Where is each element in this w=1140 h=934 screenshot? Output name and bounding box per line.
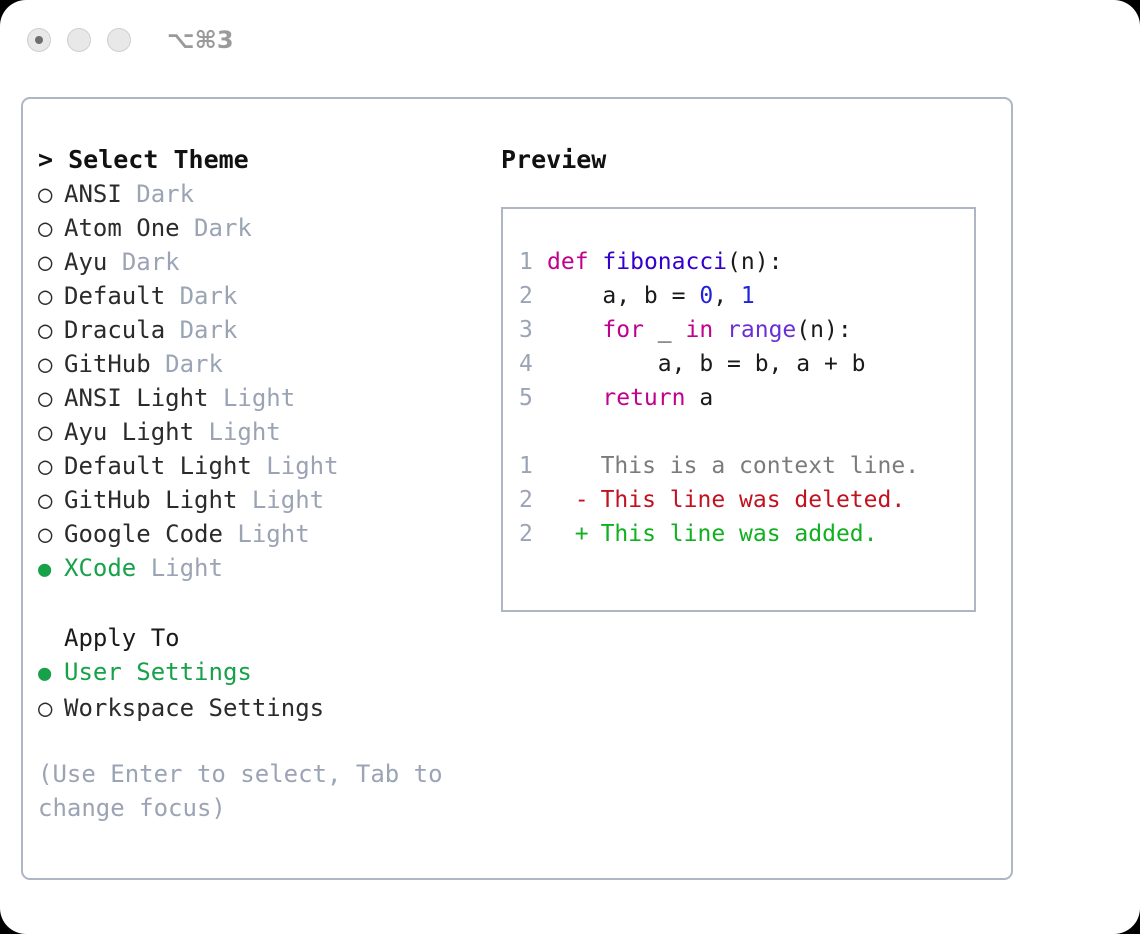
code-token: fibonacci bbox=[602, 249, 727, 275]
theme-selector-panel: > Select Theme ○ANSI Dark○Atom One Dark○… bbox=[21, 97, 1013, 880]
spacer bbox=[547, 453, 575, 479]
diff-sample: 1 This is a context line.2 - This line w… bbox=[519, 449, 974, 551]
spacer bbox=[122, 180, 136, 208]
theme-kind-label: Light bbox=[209, 418, 281, 446]
preview-box: 1def fibonacci(n):2 a, b = 0, 13 for _ i… bbox=[501, 207, 976, 612]
radio-selected-icon: ● bbox=[38, 553, 64, 587]
keyboard-hint: (Use Enter to select, Tab to change focu… bbox=[38, 757, 458, 825]
spacer bbox=[547, 521, 575, 547]
theme-name-label: GitHub bbox=[64, 350, 151, 378]
spacer bbox=[107, 248, 121, 276]
code-token: 1 bbox=[741, 283, 755, 309]
radio-unselected-icon: ○ bbox=[38, 245, 64, 279]
code-line: 4 a, b = b, a + b bbox=[519, 347, 974, 381]
radio-unselected-icon: ○ bbox=[38, 381, 64, 415]
spacer bbox=[223, 520, 237, 548]
code-token: range bbox=[727, 317, 796, 343]
line-number: 5 bbox=[519, 381, 547, 415]
line-number: 4 bbox=[519, 347, 547, 381]
code-token: return bbox=[602, 385, 685, 411]
theme-list: ○ANSI Dark○Atom One Dark○Ayu Dark○Defaul… bbox=[38, 177, 488, 587]
code-token bbox=[547, 317, 602, 343]
theme-kind-label: Light bbox=[252, 486, 324, 514]
spacer bbox=[38, 587, 488, 621]
window-dot-active-icon[interactable] bbox=[27, 28, 51, 52]
title-bar: ⌥⌘3 bbox=[0, 0, 1140, 80]
preview-title: Preview bbox=[501, 143, 1001, 177]
apply-to-option[interactable]: ●User Settings bbox=[38, 655, 488, 691]
code-token bbox=[713, 317, 727, 343]
line-number: 2 bbox=[519, 279, 547, 313]
diff-sign: + bbox=[575, 517, 587, 551]
code-token: _ bbox=[644, 317, 686, 343]
code-token: a bbox=[685, 385, 713, 411]
theme-kind-label: Light bbox=[151, 554, 223, 582]
radio-unselected-icon: ○ bbox=[38, 483, 64, 517]
theme-name-label: Ayu bbox=[64, 248, 107, 276]
line-number: 2 bbox=[519, 483, 547, 517]
theme-name-label: Default Light bbox=[64, 452, 252, 480]
code-token: a, b = bbox=[547, 283, 699, 309]
line-number: 1 bbox=[519, 449, 547, 483]
code-line: 3 for _ in range(n): bbox=[519, 313, 974, 347]
apply-to-label: User Settings bbox=[64, 658, 252, 686]
spacer bbox=[587, 453, 601, 479]
code-token: in bbox=[685, 317, 713, 343]
line-number: 2 bbox=[519, 517, 547, 551]
theme-kind-label: Dark bbox=[165, 350, 223, 378]
code-line: 2 a, b = 0, 1 bbox=[519, 279, 974, 313]
theme-name-label: GitHub Light bbox=[64, 486, 237, 514]
radio-unselected-icon: ○ bbox=[38, 211, 64, 245]
theme-kind-label: Light bbox=[237, 520, 309, 548]
spacer bbox=[519, 415, 974, 449]
diff-text: This line was deleted. bbox=[601, 487, 906, 513]
theme-list-item[interactable]: ○GitHub Light Light bbox=[38, 483, 488, 517]
theme-name-label: Dracula bbox=[64, 316, 165, 344]
radio-unselected-icon: ○ bbox=[38, 313, 64, 347]
theme-name-label: Google Code bbox=[64, 520, 223, 548]
code-token: 0 bbox=[699, 283, 713, 309]
spacer bbox=[165, 316, 179, 344]
spacer bbox=[136, 554, 150, 582]
theme-kind-label: Dark bbox=[180, 316, 238, 344]
code-line: 1def fibonacci(n): bbox=[519, 245, 974, 279]
radio-unselected-icon: ○ bbox=[38, 691, 64, 725]
code-token bbox=[589, 249, 603, 275]
code-token: for bbox=[602, 317, 644, 343]
window-dot-2-icon[interactable] bbox=[67, 28, 91, 52]
theme-kind-label: Light bbox=[223, 384, 295, 412]
code-token: , bbox=[713, 283, 741, 309]
spacer bbox=[237, 486, 251, 514]
window-dot-active-inner-icon bbox=[35, 36, 43, 44]
spacer bbox=[194, 418, 208, 446]
code-sample: 1def fibonacci(n):2 a, b = 0, 13 for _ i… bbox=[519, 245, 974, 415]
theme-list-item[interactable]: ●XCode Light bbox=[38, 551, 488, 587]
radio-unselected-icon: ○ bbox=[38, 415, 64, 449]
theme-name-label: ANSI bbox=[64, 180, 122, 208]
spacer bbox=[180, 214, 194, 242]
theme-name-label: Ayu Light bbox=[64, 418, 194, 446]
radio-unselected-icon: ○ bbox=[38, 279, 64, 313]
spacer bbox=[547, 487, 575, 513]
code-token: (n): bbox=[796, 317, 851, 343]
theme-kind-label: Dark bbox=[122, 248, 180, 276]
code-token: a, b = b, a + b bbox=[547, 351, 866, 377]
apply-to-options: ●User Settings○Workspace Settings bbox=[38, 655, 488, 725]
radio-unselected-icon: ○ bbox=[38, 347, 64, 381]
diff-text: This line was added. bbox=[601, 521, 878, 547]
radio-unselected-icon: ○ bbox=[38, 449, 64, 483]
terminal-window: ⌥⌘3 > Select Theme ○ANSI Dark○Atom One D… bbox=[0, 0, 1140, 934]
diff-sign: - bbox=[575, 483, 587, 517]
diff-text: This is a context line. bbox=[601, 453, 920, 479]
theme-list-item[interactable]: ○ANSI Light Light bbox=[38, 381, 488, 415]
diff-line: 2 - This line was deleted. bbox=[519, 483, 974, 517]
spacer bbox=[587, 521, 601, 547]
line-number: 3 bbox=[519, 313, 547, 347]
spacer bbox=[165, 282, 179, 310]
radio-selected-icon: ● bbox=[38, 657, 64, 691]
keyboard-shortcut-label: ⌥⌘3 bbox=[167, 26, 234, 54]
window-dot-3-icon[interactable] bbox=[107, 28, 131, 52]
window-controls bbox=[27, 28, 131, 52]
theme-list-item[interactable]: ○Default Light Light bbox=[38, 449, 488, 483]
theme-name-label: Default bbox=[64, 282, 165, 310]
theme-list-item[interactable]: ○Google Code Light bbox=[38, 517, 488, 551]
select-theme-header: > Select Theme bbox=[38, 143, 488, 177]
theme-list-column: > Select Theme ○ANSI Dark○Atom One Dark○… bbox=[38, 143, 488, 825]
apply-to-label: Workspace Settings bbox=[64, 694, 324, 722]
theme-kind-label: Light bbox=[266, 452, 338, 480]
line-number: 1 bbox=[519, 245, 547, 279]
theme-list-item[interactable]: ○Ayu Light Light bbox=[38, 415, 488, 449]
theme-kind-label: Dark bbox=[194, 214, 252, 242]
theme-list-item[interactable]: ○ANSI Dark bbox=[38, 177, 488, 211]
theme-kind-label: Dark bbox=[136, 180, 194, 208]
spacer bbox=[252, 452, 266, 480]
radio-unselected-icon: ○ bbox=[38, 177, 64, 211]
theme-list-item[interactable]: ○Atom One Dark bbox=[38, 211, 488, 245]
theme-list-item[interactable]: ○GitHub Dark bbox=[38, 347, 488, 381]
theme-list-item[interactable]: ○Dracula Dark bbox=[38, 313, 488, 347]
apply-to-header: Apply To bbox=[38, 621, 488, 655]
theme-list-item[interactable]: ○Ayu Dark bbox=[38, 245, 488, 279]
code-line: 5 return a bbox=[519, 381, 974, 415]
spacer bbox=[209, 384, 223, 412]
radio-unselected-icon: ○ bbox=[38, 517, 64, 551]
diff-line: 1 This is a context line. bbox=[519, 449, 974, 483]
preview-column: Preview 1def fibonacci(n):2 a, b = 0, 13… bbox=[501, 143, 1001, 612]
apply-to-option[interactable]: ○Workspace Settings bbox=[38, 691, 488, 725]
code-token bbox=[547, 385, 602, 411]
theme-list-item[interactable]: ○Default Dark bbox=[38, 279, 488, 313]
diff-sign bbox=[575, 449, 587, 483]
theme-name-label: ANSI Light bbox=[64, 384, 209, 412]
spacer bbox=[587, 487, 601, 513]
theme-name-label: Atom One bbox=[64, 214, 180, 242]
code-token: (n): bbox=[727, 249, 782, 275]
theme-kind-label: Dark bbox=[180, 282, 238, 310]
code-token: def bbox=[547, 249, 589, 275]
theme-name-label: XCode bbox=[64, 554, 136, 582]
spacer bbox=[151, 350, 165, 378]
diff-line: 2 + This line was added. bbox=[519, 517, 974, 551]
